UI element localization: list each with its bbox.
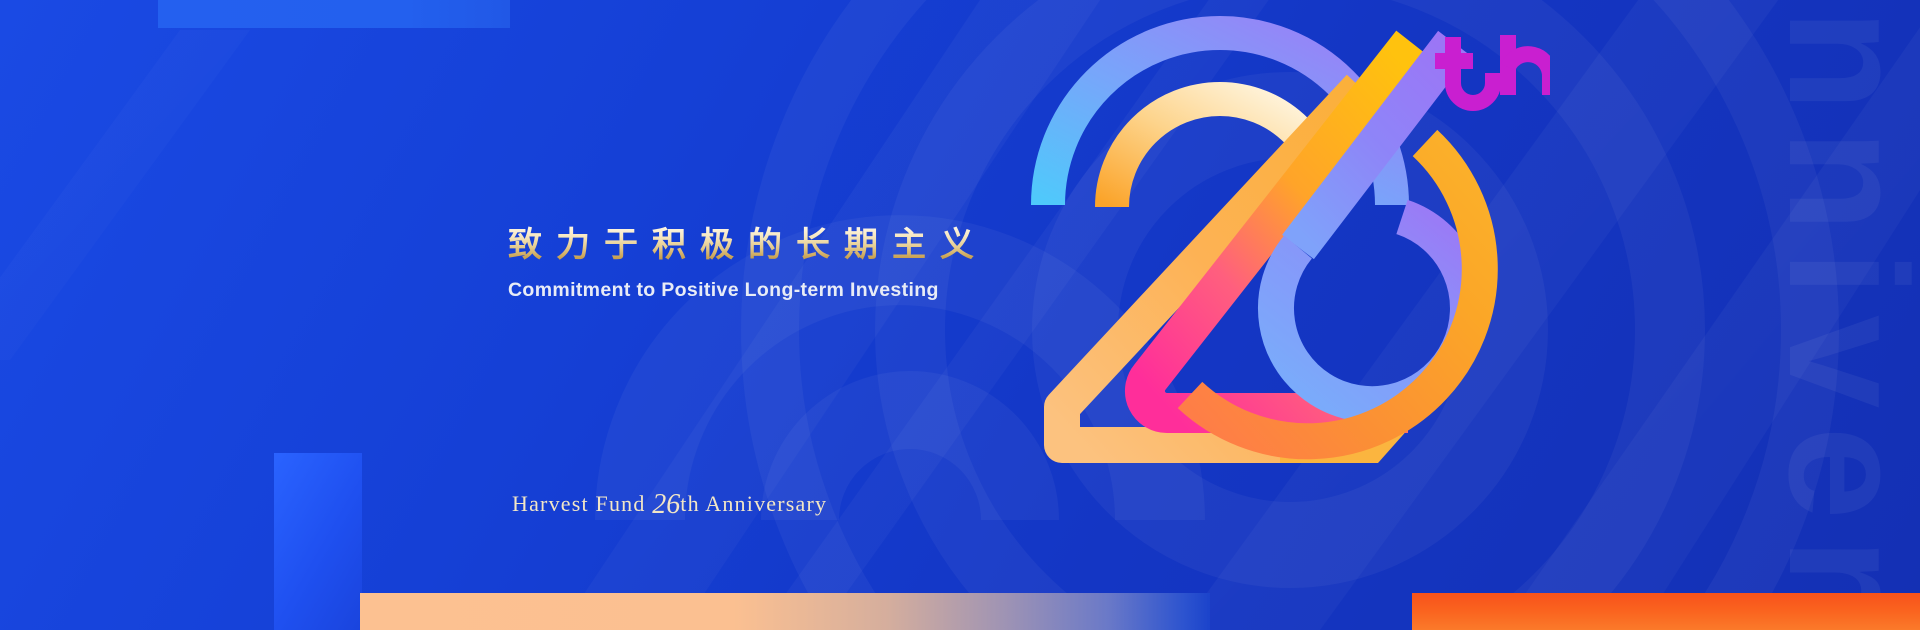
signature-line: Harvest Fund 26th Anniversary bbox=[512, 487, 827, 519]
headline-group: 致力于积极的长期主义 Commitment to Positive Long-t… bbox=[508, 224, 988, 302]
anniversary-logo-mark bbox=[1030, 15, 1550, 525]
anniversary-banner: nniver 致力于积极的长期主义 Commitment to Positive… bbox=[0, 0, 1920, 630]
watermark-anniversary-text: nniver bbox=[1754, 9, 1920, 621]
headline-english: Commitment to Positive Long-term Investi… bbox=[508, 279, 988, 302]
decor-block-left-tall bbox=[274, 453, 362, 630]
headline-chinese: 致力于积极的长期主义 bbox=[508, 224, 988, 267]
decor-bar-gradient-bottom bbox=[360, 593, 1210, 630]
decor-bar-orange-bottom bbox=[1412, 593, 1920, 630]
signature-suffix: th Anniversary bbox=[680, 491, 827, 516]
signature-number: 26 bbox=[652, 489, 680, 520]
signature-prefix: Harvest Fund bbox=[512, 491, 652, 516]
logo-superscript-th bbox=[1435, 35, 1550, 103]
decor-block-top-left bbox=[158, 0, 510, 28]
